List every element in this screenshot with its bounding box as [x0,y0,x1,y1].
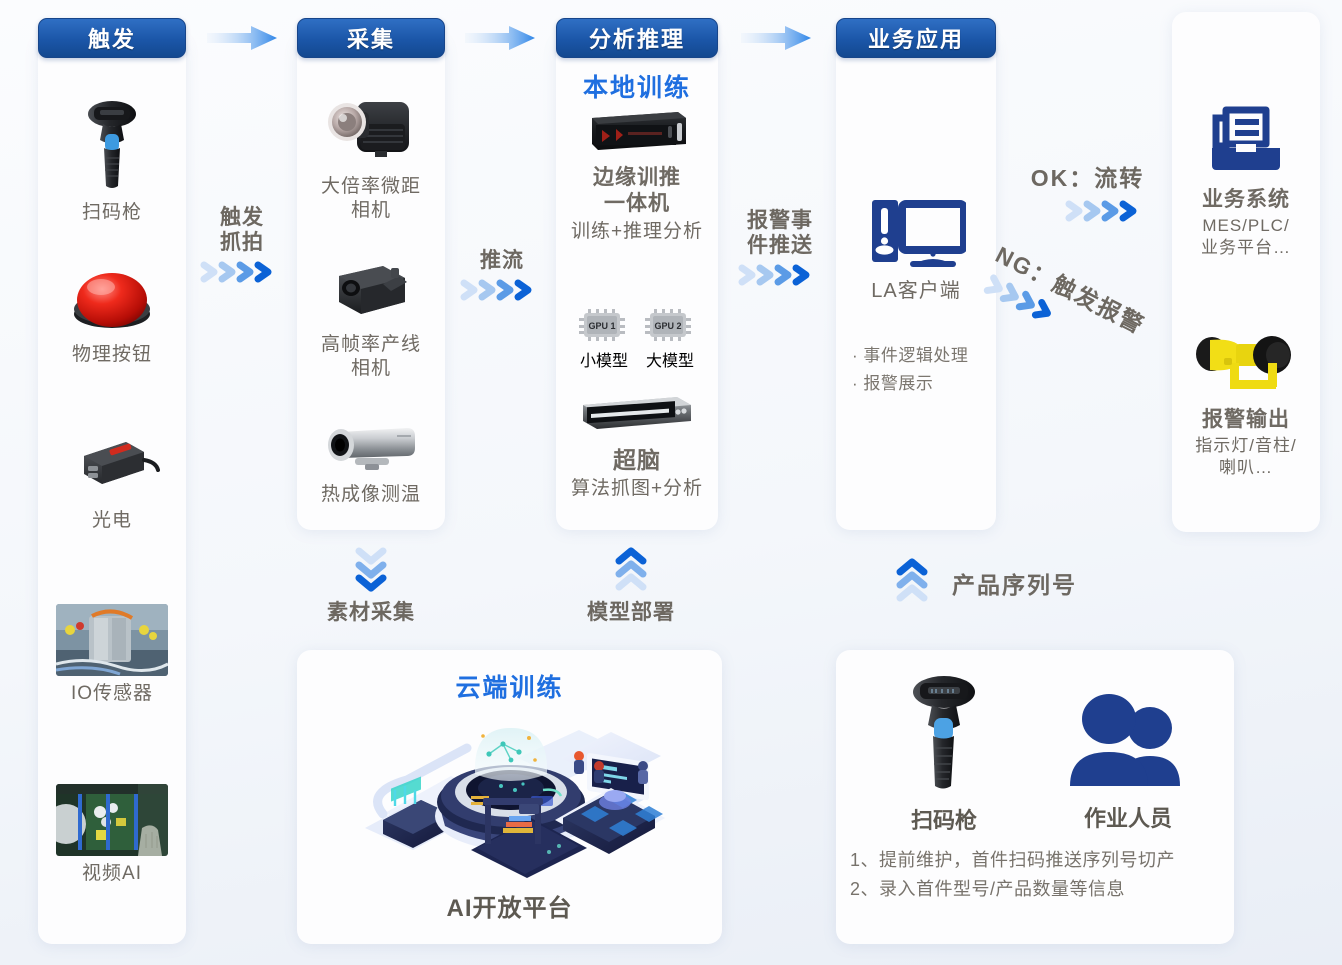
thermal-camera-icon [297,418,445,477]
svg-text:GPU 2: GPU 2 [654,321,681,331]
line-scan-camera-icon [297,258,445,327]
edge-server-icon [556,106,718,159]
header-arrow-2 [465,25,535,51]
barcode-scanner-icon [38,98,186,195]
stage-header-business: 业务应用 [836,18,996,58]
trigger-item-button-label: 物理按钮 [38,343,186,367]
trigger-item-photoelectric[interactable]: 光电 [38,426,186,533]
output-column: 业务系统 MES/PLC/ 业务平台… 报警输出 指示灯/音柱/ 喇叭… [1172,12,1320,532]
ai-platform-isometric-illustration [343,708,677,878]
stage-header-capture: 采集 [297,18,445,58]
serial-panel-item-operators-label: 作业人员 [1048,801,1208,833]
gpu-chip-icon: GPU 1 [578,329,630,346]
business-bullet-item: · 报警展示 [852,370,984,398]
io-sensor-photo [56,604,168,676]
branch-ok: OK：流转 [1000,165,1175,223]
flow-capture-to-analysis: 推流 [448,248,556,302]
vertical-flow-product-serial: 产品序列号 [884,556,1077,609]
analysis-column: 本地训练 边缘训推 一体机 训练+推理分析 [556,36,718,530]
gpu-chip-icon: GPU 2 [644,329,696,346]
desktop-computer-icon [836,196,996,273]
stage-header-capture-label: 采集 [347,22,395,54]
branch-ok-label: OK：流转 [1000,165,1175,193]
flow-trigger-to-capture-label: 触发 抓拍 [188,205,296,255]
output-item-alarm-label: 报警输出 [1172,407,1320,433]
output-item-business-system-label: 业务系统 [1172,187,1320,213]
chevron-group-right [448,278,556,302]
chevron-group-right [188,260,296,284]
serial-panel-note-item: 2、录入首件型号/产品数量等信息 [850,875,1226,904]
analysis-edge-appliance[interactable]: 边缘训推 一体机 训练+推理分析 [556,106,718,243]
analysis-super-brain[interactable]: 超脑 算法抓图+分析 [556,391,718,501]
business-client-label: LA客户端 [836,279,996,304]
branch-ng: NG：触发报警 [976,236,1176,382]
stage-header-trigger-label: 触发 [88,22,136,54]
nvr-appliance-icon [556,391,718,440]
chevron-group-up [884,556,940,609]
analysis-edge-appliance-sub: 训练+推理分析 [556,220,718,244]
vertical-flow-material-collection-label: 素材采集 [300,600,442,625]
stage-header-business-label: 业务应用 [868,22,964,54]
trigger-item-scanner[interactable]: 扫码枪 [38,98,186,225]
business-bullet-list: · 事件逻辑处理 · 报警展示 [852,342,984,398]
analysis-section-title: 本地训练 [556,68,718,104]
business-column: LA客户端 · 事件逻辑处理 · 报警展示 [836,36,996,530]
analysis-gpu-small-label: 小模型 [578,347,630,371]
analysis-gpu-large[interactable]: GPU 2 大模型 [644,308,696,371]
trigger-item-photoelectric-label: 光电 [38,509,186,533]
serial-panel-item-operators[interactable]: 作业人员 [1048,694,1208,833]
output-item-alarm[interactable]: 报警输出 指示灯/音柱/ 喇叭… [1172,330,1320,478]
analysis-gpu-large-label: 大模型 [644,347,696,371]
chevron-group-up [560,545,702,598]
chevron-group-right [722,263,838,287]
flow-capture-to-analysis-label: 推流 [448,248,556,273]
output-item-business-system-sub: MES/PLC/ 业务平台… [1172,215,1320,258]
photoelectric-sensor-icon [38,426,186,503]
capture-item-macro-camera[interactable]: 大倍率微距 相机 [297,94,445,223]
header-arrow-1 [207,25,277,51]
video-ai-photo [56,784,168,856]
serial-panel-item-scanner[interactable]: 扫码枪 [868,672,1020,835]
barcode-scanner-icon [898,777,990,794]
stage-header-analysis-label: 分析推理 [589,22,685,54]
cloud-training-panel: 云端训练 [297,650,722,944]
capture-item-thermal-camera[interactable]: 热成像测温 [297,418,445,507]
red-push-button-icon [38,266,186,337]
vertical-flow-model-deployment: 模型部署 [560,545,702,625]
analysis-gpu-group: GPU 1 小模型 [556,308,718,371]
flow-analysis-to-business: 报警事 件推送 [722,208,838,287]
capture-column: 大倍率微距 相机 高帧率产线 相机 [297,36,445,530]
trigger-column: 扫码枪 物理按钮 [38,36,186,944]
macro-camera-icon [297,94,445,169]
vertical-flow-model-deployment-label: 模型部署 [560,600,702,625]
serial-panel-item-scanner-label: 扫码枪 [868,803,1020,835]
vertical-flow-material-collection: 素材采集 [300,545,442,625]
trigger-item-video-ai-label: 视频AI [38,862,186,886]
output-item-business-system[interactable]: 业务系统 MES/PLC/ 业务平台… [1172,102,1320,258]
svg-text:GPU 1: GPU 1 [588,321,615,331]
chevron-group-right [1000,199,1175,223]
cloud-training-title: 云端训练 [297,668,722,704]
trigger-item-io-sensor[interactable]: IO传感器 [38,604,186,706]
serial-panel-note-item: 1、提前维护，首件扫码推送序列号切产 [850,846,1226,875]
business-bullet-item: · 事件逻辑处理 [852,342,984,370]
analysis-edge-appliance-label: 边缘训推 一体机 [556,165,718,218]
diagram-canvas: 触发 采集 分析推理 业务应用 [0,0,1342,965]
operators-people-icon [1062,777,1194,794]
vertical-flow-product-serial-label: 产品序列号 [952,566,1077,600]
flow-trigger-to-capture: 触发 抓拍 [188,205,296,284]
serial-panel-notes: 1、提前维护，首件扫码推送序列号切产 2、录入首件型号/产品数量等信息 [850,846,1226,904]
trigger-item-io-sensor-label: IO传感器 [38,682,186,706]
capture-item-line-camera[interactable]: 高帧率产线 相机 [297,258,445,381]
business-system-icon [1172,102,1320,181]
serial-number-panel: 扫码枪 作业人员 1、提前维护，首件扫码推送序列号切产 2、录入首件型号/产品数… [836,650,1234,944]
flow-analysis-to-business-label: 报警事 件推送 [722,208,838,258]
capture-item-macro-camera-label: 大倍率微距 相机 [297,175,445,223]
header-arrow-3 [741,25,811,51]
business-client[interactable]: LA客户端 [836,196,996,304]
stage-header-trigger: 触发 [38,18,186,58]
cloud-training-caption: AI开放平台 [297,888,722,923]
stage-header-analysis: 分析推理 [556,18,718,58]
capture-item-thermal-camera-label: 热成像测温 [297,483,445,507]
analysis-super-brain-label: 超脑 [556,446,718,475]
trigger-item-button[interactable]: 物理按钮 [38,266,186,367]
trigger-item-scanner-label: 扫码枪 [38,201,186,225]
chevron-group-down [300,545,442,598]
alarm-horn-icon [1172,330,1320,401]
analysis-gpu-small[interactable]: GPU 1 小模型 [578,308,630,371]
trigger-item-video-ai[interactable]: 视频AI [38,784,186,886]
output-item-alarm-sub: 指示灯/音柱/ 喇叭… [1172,435,1320,478]
analysis-super-brain-sub: 算法抓图+分析 [556,477,718,501]
capture-item-line-camera-label: 高帧率产线 相机 [297,333,445,381]
